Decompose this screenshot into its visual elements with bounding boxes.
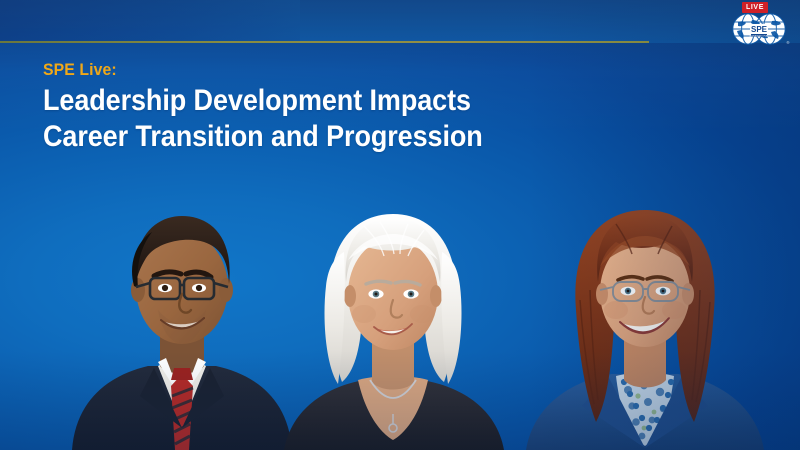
spe-live-title-slide: SPE Live: Leadership Development Impacts… — [0, 0, 800, 450]
title-line-2: Career Transition and Progression — [43, 119, 619, 155]
header-divider-rule — [0, 41, 649, 43]
spe-mark-subtext: INTERNATIONAL — [749, 34, 770, 37]
spe-globes-icon: SPE INTERNATIONAL ® — [728, 13, 790, 46]
page-title: Leadership Development Impacts Career Tr… — [43, 83, 619, 155]
speaker-photo-2 — [268, 190, 518, 450]
spe-live-logo: LIVE — [728, 2, 790, 48]
speaker-photo-row — [0, 190, 800, 450]
title-line-1: Leadership Development Impacts — [43, 83, 619, 119]
live-badge: LIVE — [742, 2, 768, 13]
background-top-band-left — [0, 0, 300, 43]
spe-mark-text: SPE — [751, 25, 768, 34]
eyebrow-label: SPE Live: — [43, 60, 117, 80]
trademark-symbol: ® — [787, 40, 790, 45]
speaker-photo-3 — [520, 190, 770, 450]
speaker-photo-1 — [62, 190, 302, 450]
